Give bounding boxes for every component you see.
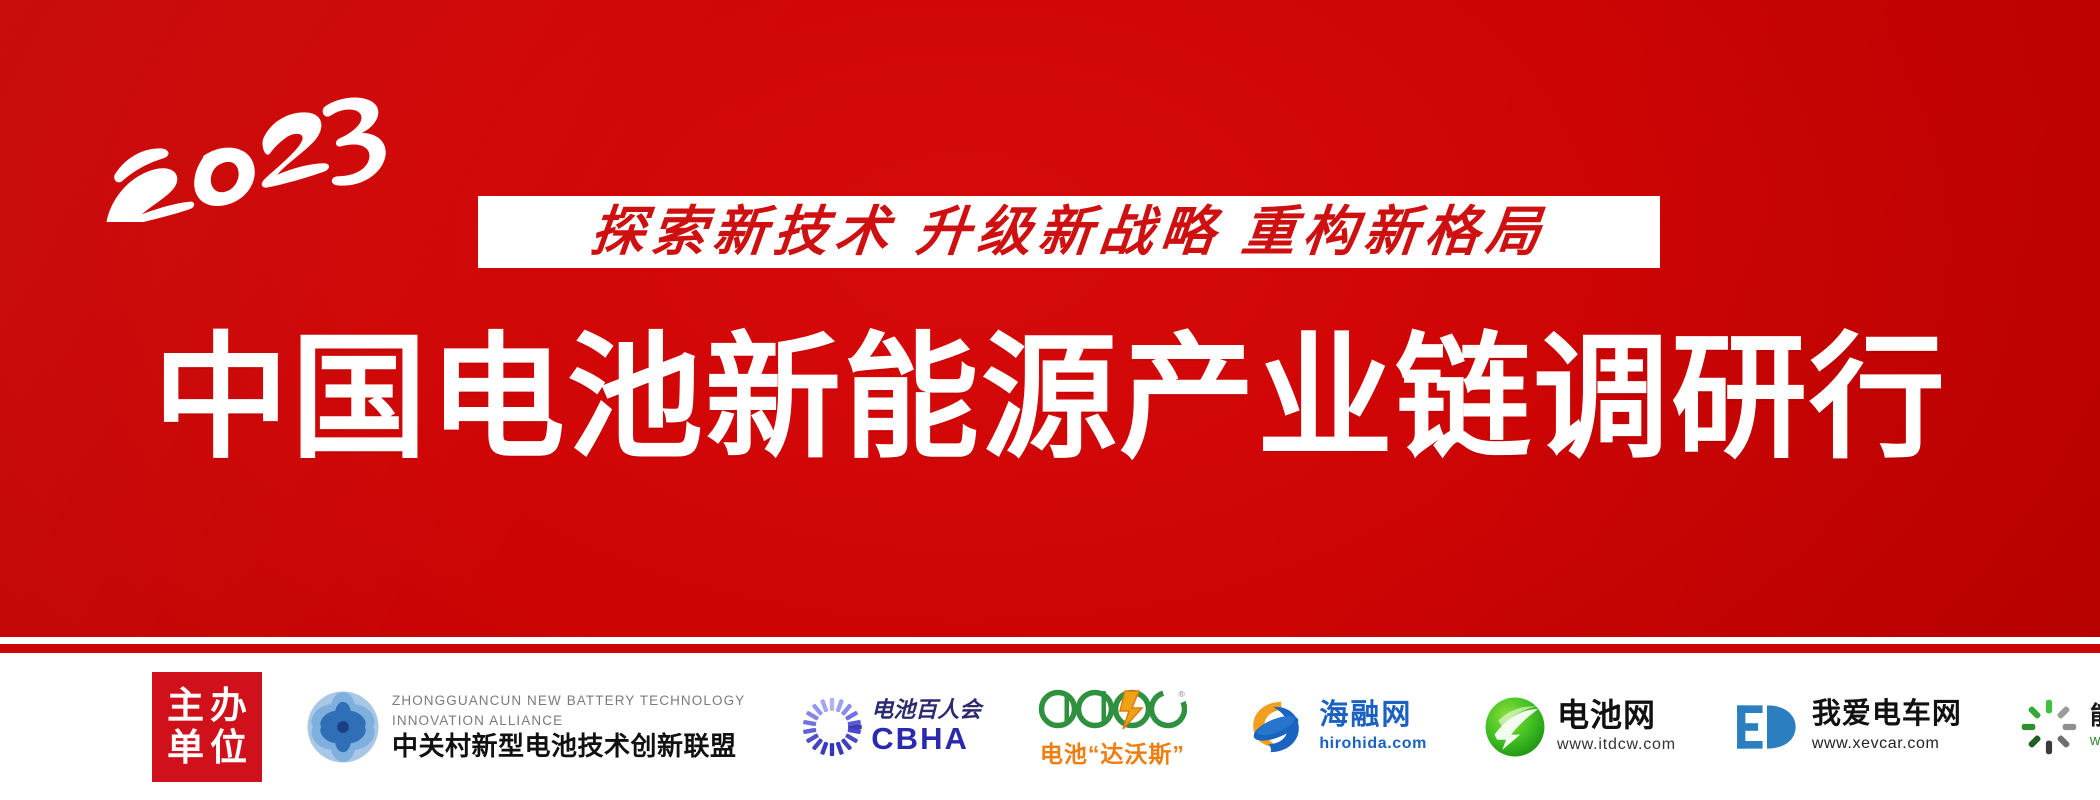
radial-burst-icon <box>801 696 863 758</box>
xevcar-url: www.xevcar.com <box>1812 734 1962 753</box>
logo-itdcw[interactable]: 电池网 www.itdcw.com <box>1483 695 1676 759</box>
host-badge-line2: 单位 <box>161 727 253 768</box>
abec-trademark: ® <box>1179 689 1186 699</box>
divider-red-stripe <box>0 644 2100 653</box>
logo-abec[interactable]: ® 电池“达沃斯” <box>1037 685 1187 769</box>
hero-panel: 探索新技术 升级新战略 重构新格局 中国电池新能源产业链调研行 <box>0 0 2100 637</box>
itdcw-url: www.itdcw.com <box>1557 735 1676 754</box>
abec-rings-icon: ® <box>1037 685 1187 733</box>
blue-flower-icon <box>306 690 380 764</box>
cbia-chinese-name: 中关村新型电池技术创新联盟 <box>392 732 745 762</box>
inewenergy-url: www.inewenergy.com <box>2090 733 2100 750</box>
inewenergy-chinese-name: 能源财经网 <box>2090 703 2100 731</box>
hirohida-chinese-name: 海融网 <box>1319 700 1427 732</box>
logo-inewenergy[interactable]: 能源财经网 www.inewenergy.com <box>2018 696 2100 758</box>
cbia-english-line2: INNOVATION ALLIANCE <box>392 711 745 731</box>
cbha-chinese-name: 电池百人会 <box>871 698 981 722</box>
abec-chinese-name: 电池“达沃斯” <box>1040 735 1185 769</box>
host-badge-line1: 主办 <box>161 685 253 726</box>
year-brush-2023 <box>92 92 392 222</box>
slogan-box: 探索新技术 升级新战略 重构新格局 <box>478 196 1660 268</box>
blue-orange-swirl-icon <box>1243 694 1309 760</box>
hirohida-url: hirohida.com <box>1319 734 1427 753</box>
cbha-abbreviation: CBHA <box>871 723 981 756</box>
cbia-english-line1: ZHONGGUANCUN NEW BATTERY TECHNOLOGY <box>392 691 745 711</box>
logo-hirohida[interactable]: 海融网 hirohida.com <box>1243 694 1427 760</box>
sponsor-bar: 主办 单位 <box>0 653 2100 800</box>
event-banner: 探索新技术 升级新战略 重构新格局 中国电池新能源产业链调研行 主办 单位 <box>0 0 2100 800</box>
logo-cbha[interactable]: 电池百人会 CBHA <box>801 696 981 758</box>
green-globe-icon <box>1483 695 1547 759</box>
xevcar-chinese-name: 我爱电车网 <box>1812 699 1962 731</box>
itdcw-chinese-name: 电池网 <box>1557 699 1676 733</box>
blue-plug-icon <box>1732 699 1802 755</box>
green-radial-segments-icon <box>2018 696 2080 758</box>
divider-gap <box>0 637 2100 644</box>
logo-xevcar[interactable]: 我爱电车网 www.xevcar.com <box>1732 699 1962 755</box>
page-title: 中国电池新能源产业链调研行 <box>0 325 2100 472</box>
logo-cbia[interactable]: ZHONGGUANCUN NEW BATTERY TECHNOLOGY INNO… <box>306 690 745 764</box>
host-organizer-badge: 主办 单位 <box>152 672 262 782</box>
slogan-text: 探索新技术 升级新战略 重构新格局 <box>588 205 1550 259</box>
